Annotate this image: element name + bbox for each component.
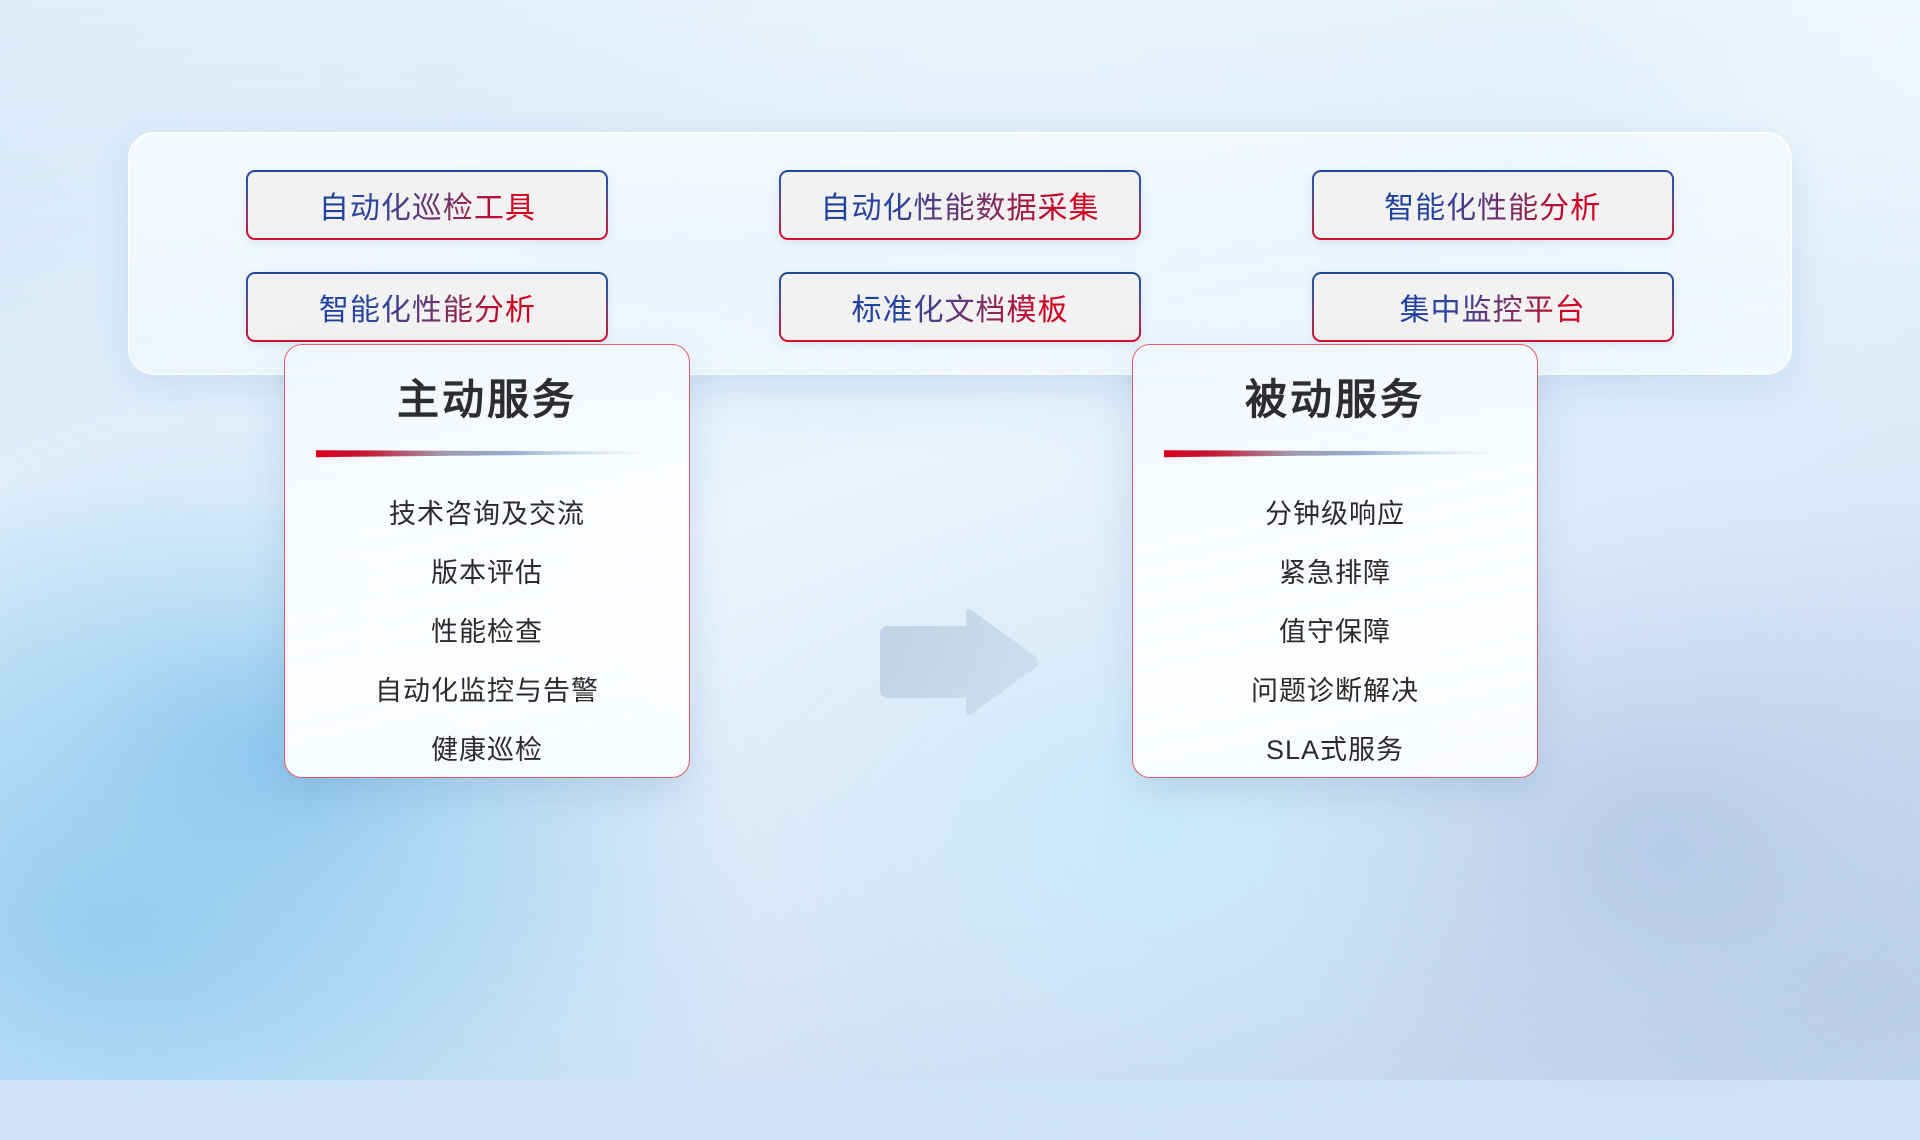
capability-pill[interactable]: 标准化文档模板: [779, 272, 1141, 342]
capability-pill[interactable]: 自动化性能数据采集: [779, 170, 1141, 240]
service-card-proactive: 主动服务 技术咨询及交流 版本评估 性能检查 自动化监控与告警 健康巡检: [284, 344, 690, 778]
capability-pill-label: 智能化性能分析: [319, 285, 536, 329]
card-divider-icon: [316, 449, 658, 459]
card-item-list: 分钟级响应 紧急排障 值守保障 问题诊断解决 SLA式服务: [1133, 485, 1537, 778]
list-item: 版本评估: [431, 544, 543, 603]
capability-pill[interactable]: 自动化巡检工具: [246, 170, 608, 240]
card-divider-icon: [1164, 449, 1506, 459]
capability-pill-grid: 自动化巡检工具 自动化性能数据采集 智能化性能分析 智能化性能分析 标准化文档模…: [204, 170, 1716, 338]
list-item: 性能检查: [431, 603, 543, 662]
capability-pill-label: 自动化性能数据采集: [820, 183, 1099, 227]
capability-pill[interactable]: 智能化性能分析: [1312, 170, 1674, 240]
list-item: 自动化监控与告警: [375, 662, 599, 721]
list-item: 问题诊断解决: [1251, 662, 1419, 721]
list-item: SLA式服务: [1266, 721, 1404, 778]
list-item: 分钟级响应: [1265, 485, 1405, 544]
card-item-list: 技术咨询及交流 版本评估 性能检查 自动化监控与告警 健康巡检: [285, 485, 689, 778]
card-title: 被动服务: [1245, 379, 1425, 421]
capability-panel: 自动化巡检工具 自动化性能数据采集 智能化性能分析 智能化性能分析 标准化文档模…: [128, 132, 1792, 375]
list-item: 值守保障: [1279, 603, 1391, 662]
service-card-reactive: 被动服务 分钟级响应 紧急排障 值守保障 问题诊断解决 SLA式服务: [1132, 344, 1538, 778]
list-item: 紧急排障: [1279, 544, 1391, 603]
capability-pill-label: 标准化文档模板: [851, 285, 1068, 329]
list-item: 健康巡检: [431, 721, 543, 778]
list-item: 技术咨询及交流: [389, 485, 585, 544]
capability-pill-label: 智能化性能分析: [1384, 183, 1601, 227]
arrow-right-icon: [872, 604, 1042, 720]
capability-pill[interactable]: 集中监控平台: [1312, 272, 1674, 342]
card-title: 主动服务: [397, 379, 577, 421]
capability-pill[interactable]: 智能化性能分析: [246, 272, 608, 342]
capability-pill-label: 自动化巡检工具: [319, 183, 536, 227]
capability-pill-label: 集中监控平台: [1400, 285, 1586, 329]
